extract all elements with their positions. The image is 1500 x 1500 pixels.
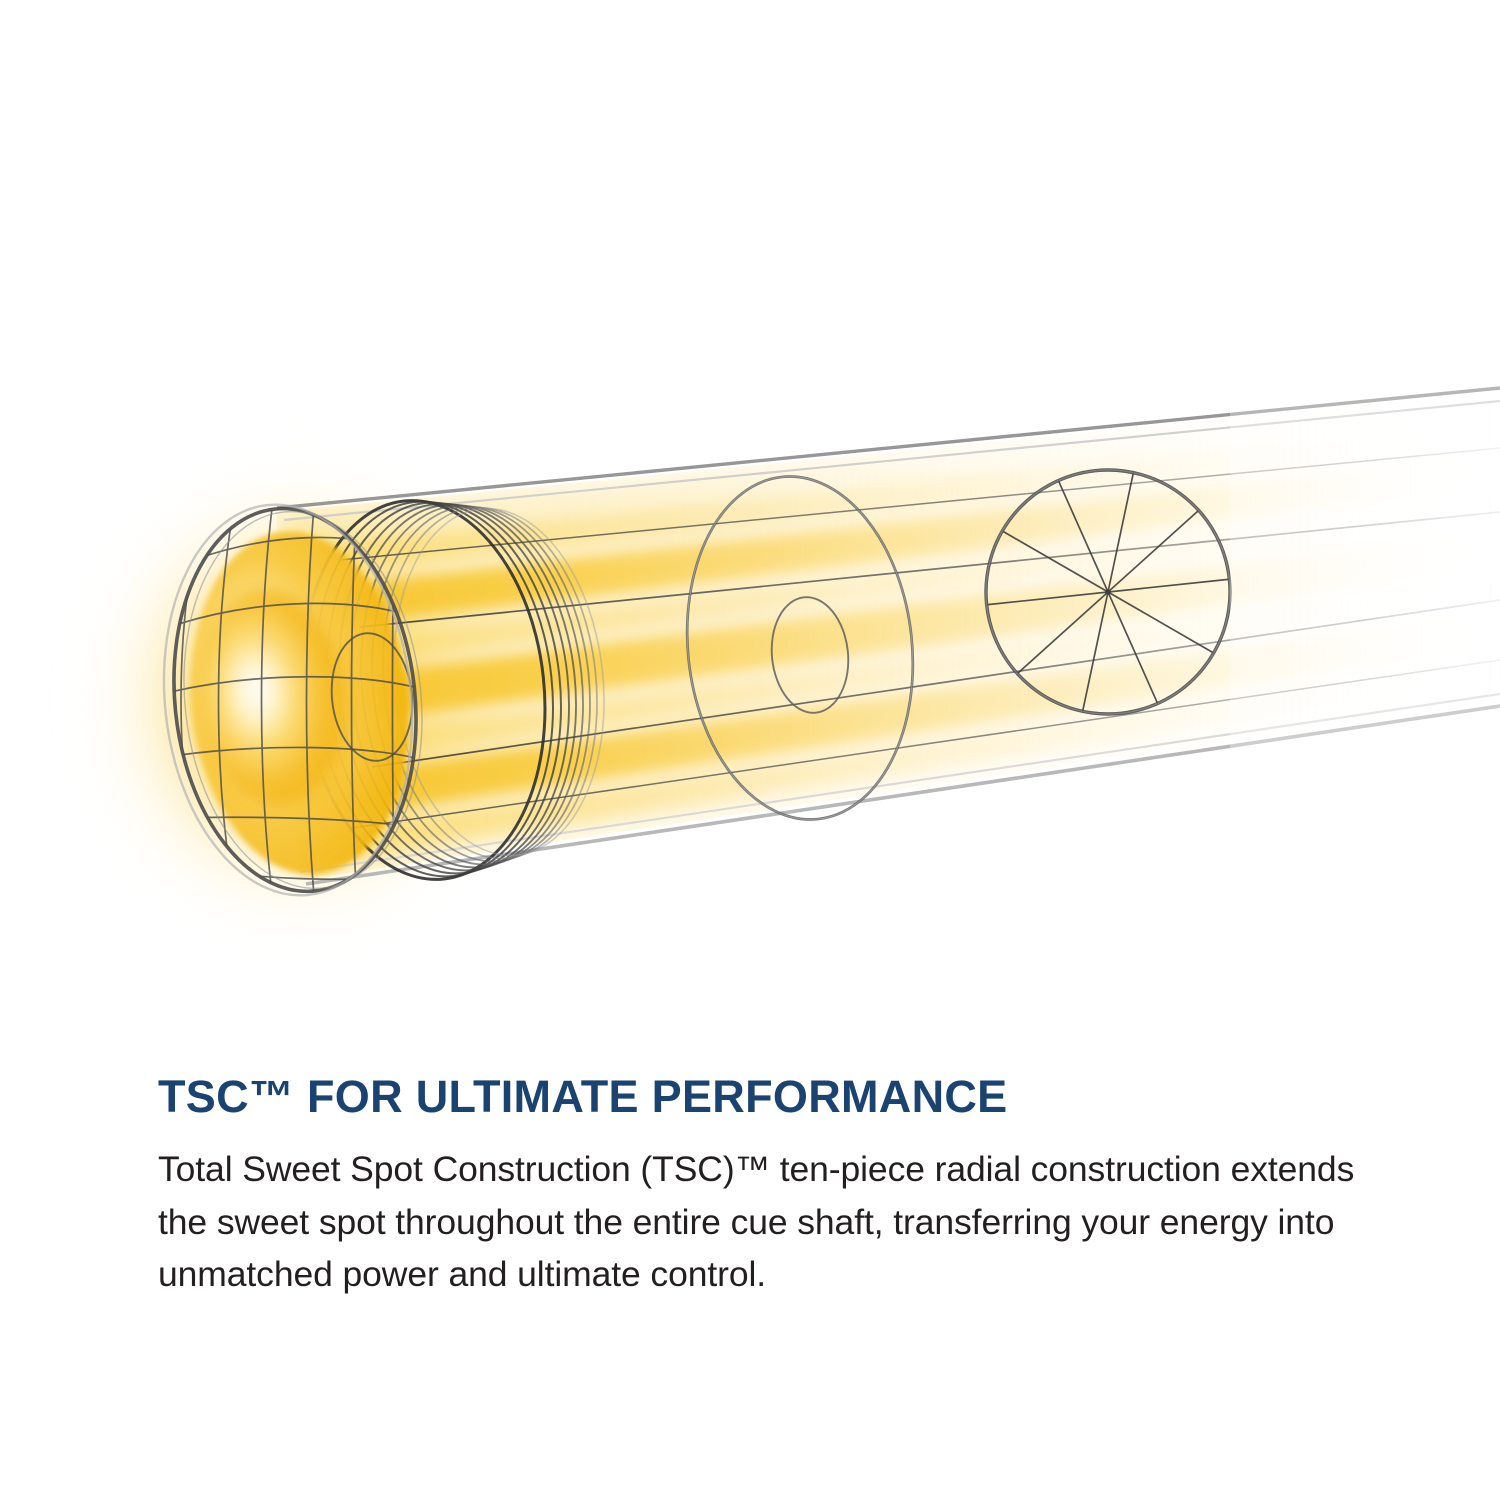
feature-description: Total Sweet Spot Construction (TSC)™ ten… — [158, 1122, 1368, 1300]
product-feature-panel: TSC™ FOR ULTIMATE PERFORMANCE Total Swee… — [0, 0, 1500, 1500]
right-fade-veil — [1230, 330, 1500, 750]
feature-text-block: TSC™ FOR ULTIMATE PERFORMANCE Total Swee… — [158, 1072, 1398, 1300]
cue-shaft-illustration — [0, 0, 1500, 1040]
cue-shaft-cutaway-svg — [0, 0, 1500, 1040]
page-title: TSC™ FOR ULTIMATE PERFORMANCE — [158, 1072, 1398, 1122]
